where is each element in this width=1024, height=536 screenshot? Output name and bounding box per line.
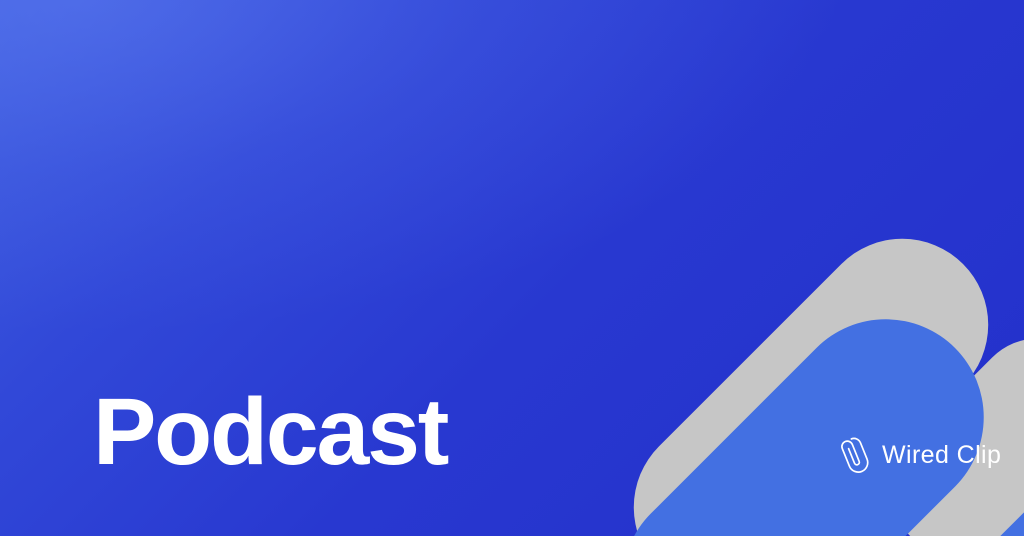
brand-name: Wired Clip [882,443,1001,468]
brand-logo[interactable]: Wired Clip [833,433,1001,477]
paperclip-icon [833,433,873,477]
promo-banner: Podcast Name Generators Wired Clip [0,0,1024,536]
page-title: Podcast Name Generators [93,150,852,536]
headline-line-1: Podcast [93,376,852,489]
